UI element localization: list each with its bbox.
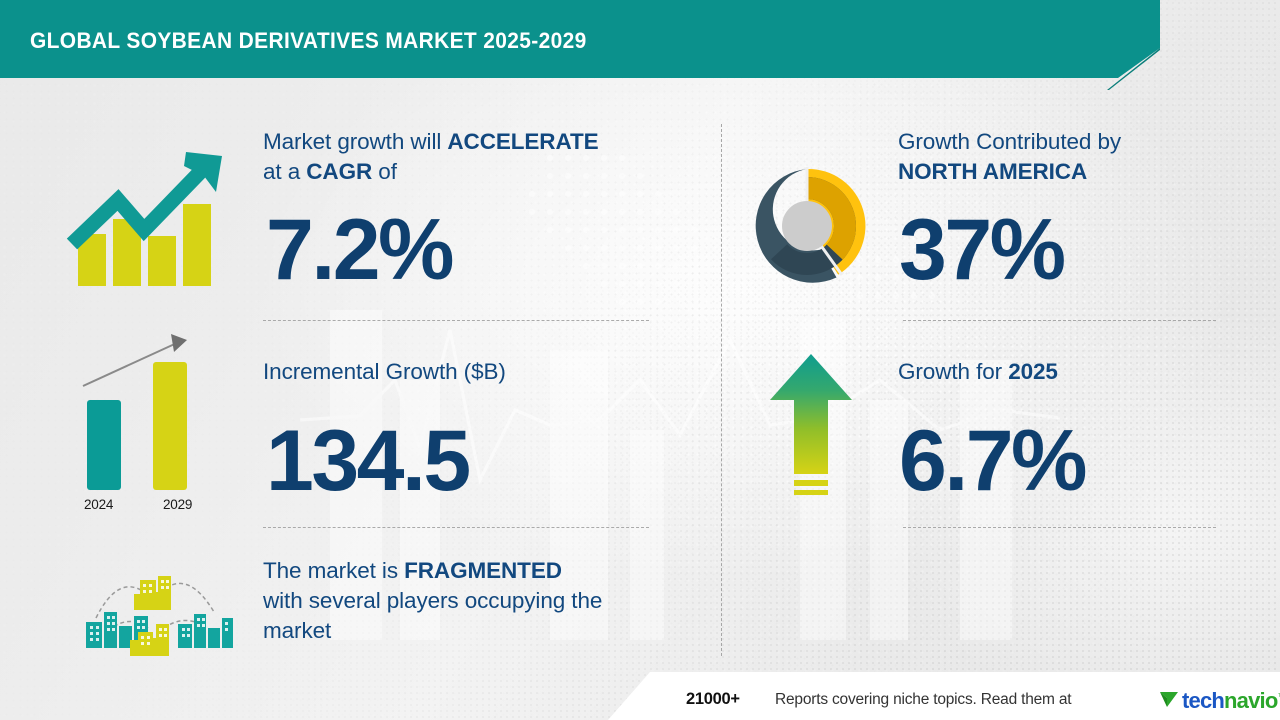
donut-chart-icon xyxy=(744,163,870,289)
column-divider xyxy=(721,124,722,656)
city-buildings-icon xyxy=(78,566,236,656)
yearly-lead-bold: 2025 xyxy=(1008,359,1058,384)
infographic-page: GLOBAL SOYBEAN DERIVATIVES MARKET 2025-2… xyxy=(0,0,1280,720)
divider-left-2 xyxy=(263,527,649,528)
divider-right-2 xyxy=(903,527,1216,528)
yearly-growth-lead-text: Growth for 2025 xyxy=(898,357,1228,387)
region-value: 37% xyxy=(899,207,1064,293)
divider-left-1 xyxy=(263,320,649,321)
yearly-growth-value: 6.7% xyxy=(899,418,1085,504)
page-title: GLOBAL SOYBEAN DERIVATIVES MARKET 2025-2… xyxy=(30,28,587,54)
cagr-lead-bold: ACCELERATE xyxy=(447,129,598,154)
cagr-value: 7.2% xyxy=(266,207,452,293)
frag-line2: with several players occupying the xyxy=(263,588,602,613)
frag-line1-plain: The market is xyxy=(263,558,404,583)
cagr-lead-text: Market growth will ACCELERATE at a CAGR … xyxy=(263,127,663,187)
two-bar-chart-icon xyxy=(75,330,205,495)
technavio-logo-icon xyxy=(1158,687,1182,711)
frag-line1-bold: FRAGMENTED xyxy=(404,558,562,583)
incremental-growth-label: Incremental Growth ($B) xyxy=(263,357,663,387)
growth-chart-icon xyxy=(66,144,236,299)
frag-line3: market xyxy=(263,618,331,643)
cagr-line2-bold: CAGR xyxy=(306,159,372,184)
incremental-growth-value: 134.5 xyxy=(266,418,469,504)
region-name: NORTH AMERICA xyxy=(898,159,1087,184)
divider-right-1 xyxy=(903,320,1216,321)
fragmentation-text: The market is FRAGMENTED with several pl… xyxy=(263,556,683,646)
bar-label-2029: 2029 xyxy=(163,497,192,512)
cagr-lead-plain: Market growth will xyxy=(263,129,447,154)
up-arrow-icon xyxy=(768,352,854,502)
region-lead-plain: Growth Contributed by xyxy=(898,129,1121,154)
footer-report-count: 21000+ xyxy=(686,690,740,709)
footer-tagline: Reports covering niche topics. Read them… xyxy=(775,691,1071,709)
region-lead-text: Growth Contributed by NORTH AMERICA xyxy=(898,127,1228,187)
cagr-line2-tail: of xyxy=(372,159,397,184)
logo-text-navio: navio xyxy=(1224,688,1277,713)
bar-label-2024: 2024 xyxy=(84,497,113,512)
yearly-lead-plain: Growth for xyxy=(898,359,1008,384)
cagr-line2-plain: at a xyxy=(263,159,306,184)
logo-text-tech: tech xyxy=(1182,688,1224,713)
technavio-wordmark[interactable]: technavio™ xyxy=(1182,688,1280,714)
